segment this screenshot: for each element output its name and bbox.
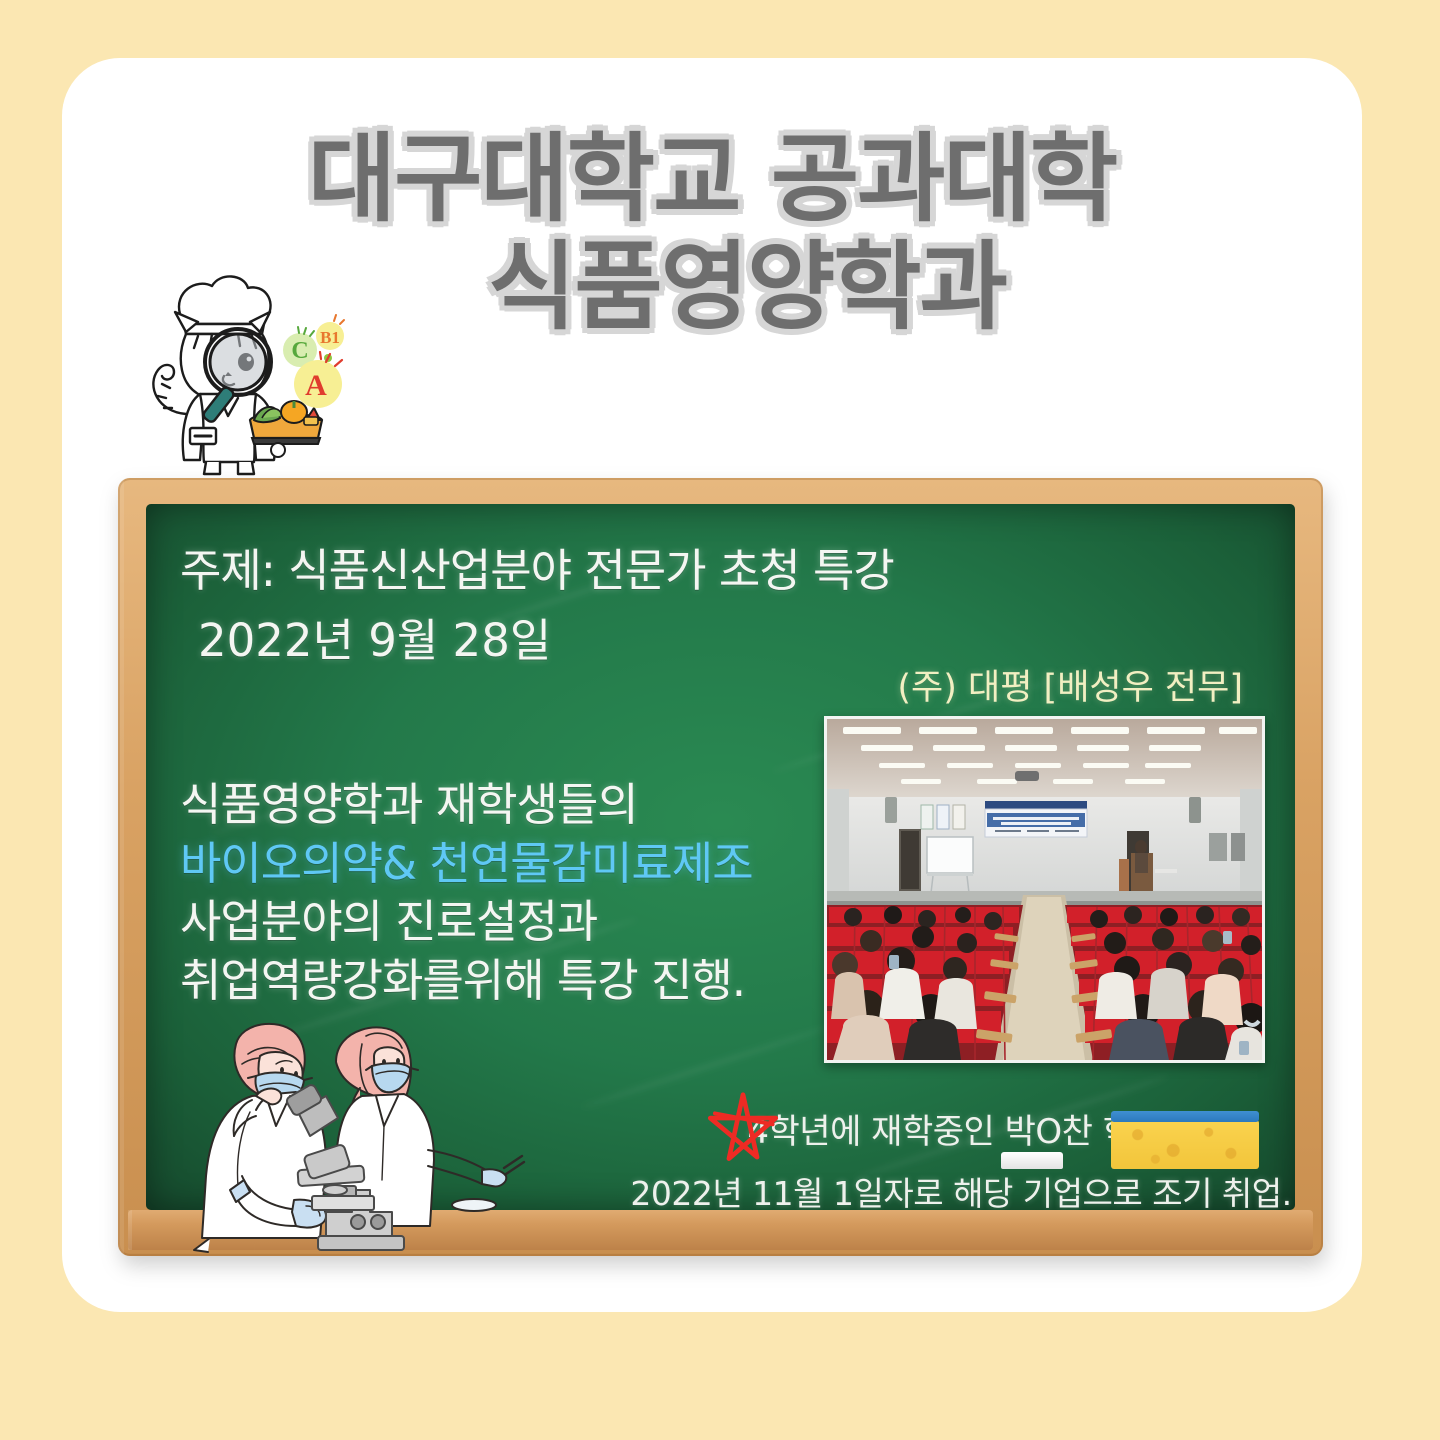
- footer-line-2: 2022년 11월 1일자로 해당 기업으로 조기 취업.: [616, 1167, 1295, 1210]
- tiger-mascot-illustration: C B1 A: [128, 262, 358, 477]
- vitamin-bubble-b1: B1: [316, 315, 344, 350]
- body-line-3: 사업분야의 진로설정과: [180, 893, 753, 952]
- chalk-stick: [1001, 1152, 1063, 1169]
- board-body-text: 식품영양학과 재학생들의 바이오의약& 천연물감미료제조 사업분야의 진로설정과…: [180, 776, 753, 1010]
- svg-text:C: C: [291, 338, 308, 364]
- chalk-smear: [581, 1024, 830, 1110]
- researchers-microscope-illustration: [130, 1000, 550, 1268]
- body-line-2: 바이오의약& 천연물감미료제조: [180, 835, 753, 894]
- lecture-hall-photo: [824, 716, 1265, 1063]
- body-line-1: 식품영양학과 재학생들의: [180, 776, 753, 835]
- date-line: 2022년 9월 28일: [198, 604, 551, 669]
- company-line: (주) 대평 [배성우 전무]: [897, 659, 1243, 710]
- subject-line: 주제: 식품신산업분야 전문가 초청 특강: [180, 534, 894, 599]
- svg-text:A: A: [305, 369, 327, 402]
- eraser-blue-top: [1111, 1111, 1259, 1122]
- poster-root: 대구대학교 공과대학 식품영양학과: [0, 0, 1440, 1440]
- svg-text:B1: B1: [320, 328, 340, 347]
- sponge-eraser: [1111, 1120, 1259, 1169]
